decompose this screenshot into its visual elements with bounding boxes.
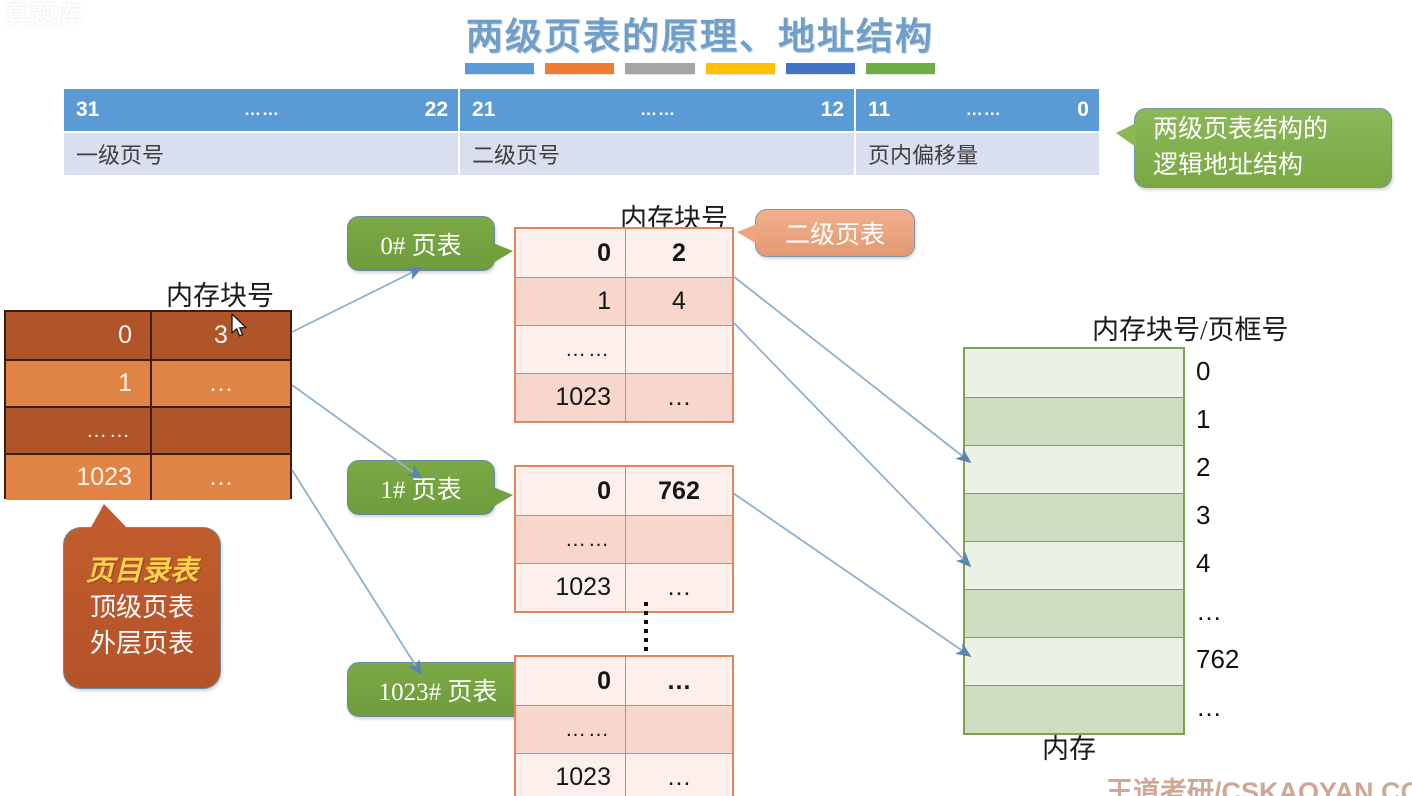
mouse-cursor-icon xyxy=(231,313,249,339)
callout-dir-line2: 顶级页表 xyxy=(90,590,194,626)
dir-index-2: …… xyxy=(6,408,152,453)
table-row: 0 2 xyxy=(516,229,732,277)
memory-frame xyxy=(965,541,1183,589)
callout-logic-line2: 逻辑地址结构 xyxy=(1153,148,1303,184)
pt0-index-2: …… xyxy=(516,326,626,373)
dir-value-2 xyxy=(152,408,290,453)
accent-bar-6 xyxy=(866,63,935,74)
address-bits-level2: 21 …… 12 xyxy=(459,88,855,132)
memory-frame xyxy=(965,397,1183,445)
dir-index-1: 1 xyxy=(6,361,152,406)
address-structure-table: 31 …… 22 21 …… 12 11 …… 0 一级页号 二级页号 页内偏移… xyxy=(63,88,1100,176)
bits-low-1: 22 xyxy=(425,98,448,122)
callout-tail-icon xyxy=(493,243,513,263)
accent-bar-1 xyxy=(465,63,534,74)
dir-value-3: … xyxy=(152,455,290,500)
label-block-number-right: 内存块号/页框号 xyxy=(1092,308,1289,347)
dir-value-0: 3 xyxy=(152,312,290,359)
callout-tail-icon xyxy=(1116,123,1136,147)
callout-dir-line1: 页目录表 xyxy=(86,554,198,590)
table-row: …… xyxy=(516,705,732,753)
arrow-pt1row0-to-frame762 xyxy=(733,493,970,656)
watermark-top-left: 真题库 xyxy=(4,0,230,30)
table-row: 1023 … xyxy=(516,563,732,611)
bits-dots-3: …… xyxy=(966,100,1002,120)
callout-logical-address-structure: 两级页表结构的 逻辑地址结构 xyxy=(1134,108,1392,188)
frame-label-7: … xyxy=(1196,683,1286,731)
field-level2-page-no: 二级页号 xyxy=(459,132,855,176)
page-title: 两级页表的原理、地址结构 xyxy=(420,6,980,60)
vertical-ellipsis-icon xyxy=(641,602,651,651)
accent-bar-3 xyxy=(625,63,694,74)
bits-high-2: 21 xyxy=(472,98,495,122)
bits-low-2: 12 xyxy=(821,98,844,122)
pt1-value-1 xyxy=(626,516,732,563)
callout-logic-line1: 两级页表结构的 xyxy=(1153,112,1328,148)
memory-frame xyxy=(965,445,1183,493)
bilibili-watermark: bilibili xyxy=(118,0,193,30)
pt1023-value-0: … xyxy=(626,657,732,705)
dir-value-1: … xyxy=(152,361,290,406)
table-row: …… xyxy=(516,325,732,373)
memory-frame xyxy=(965,493,1183,541)
bits-dots-1: …… xyxy=(244,100,280,120)
callout-tail-icon xyxy=(493,487,513,507)
address-bits-offset: 11 …… 0 xyxy=(855,88,1100,132)
memory-frame-labels: 0 1 2 3 4 … 762 … xyxy=(1196,347,1286,731)
pt0-value-2 xyxy=(626,326,732,373)
callout-l2-label: 二级页表 xyxy=(785,215,885,251)
second-level-page-table-0: 0 2 1 4 …… 1023 … xyxy=(514,227,734,423)
frame-label-6: 762 xyxy=(1196,635,1286,683)
slide-canvas: 真题库 bilibili 王道考研/CSKAOYAN.COM 两级页表的原理、地… xyxy=(0,0,1412,796)
callout-page-directory: 页目录表 顶级页表 外层页表 xyxy=(63,527,221,689)
pt0-value-3: … xyxy=(626,374,732,421)
pt1023-index-2: 1023 xyxy=(516,754,626,796)
pt1-index-0: 0 xyxy=(516,467,626,515)
callout-pt1-label: 1# 页表 xyxy=(380,470,461,506)
callout-second-level-page-table: 二级页表 xyxy=(755,209,915,257)
accent-bar-5 xyxy=(786,63,855,74)
pt0-index-3: 1023 xyxy=(516,374,626,421)
callout-tail-icon xyxy=(90,504,128,529)
frame-label-3: 3 xyxy=(1196,491,1286,539)
pt0-index-0: 0 xyxy=(516,229,626,277)
bits-dots-2: …… xyxy=(640,100,676,120)
pt1-index-2: 1023 xyxy=(516,564,626,611)
address-bit-row: 31 …… 22 21 …… 12 11 …… 0 xyxy=(63,88,1100,132)
bits-low-3: 0 xyxy=(1077,98,1089,122)
field-level1-page-no: 一级页号 xyxy=(63,132,459,176)
accent-bar-strip xyxy=(465,63,935,74)
frame-label-4: 4 xyxy=(1196,539,1286,587)
frame-label-0: 0 xyxy=(1196,347,1286,395)
table-row: 1 4 xyxy=(516,277,732,325)
callout-page-table-1: 1# 页表 xyxy=(347,460,495,515)
frame-label-5: … xyxy=(1196,587,1286,635)
table-row: …… xyxy=(516,515,732,563)
pt1023-value-1 xyxy=(626,706,732,753)
callout-dir-line3: 外层页表 xyxy=(90,626,194,662)
watermark-bottom-right: 王道考研/CSKAOYAN.COM xyxy=(1106,770,1412,796)
callout-pt0-label: 0# 页表 xyxy=(380,226,461,262)
pt1023-index-0: 0 xyxy=(516,657,626,705)
pt1023-value-2: … xyxy=(626,754,732,796)
second-level-page-table-1023: 0 … …… 1023 … xyxy=(514,655,734,796)
callout-page-table-0: 0# 页表 xyxy=(347,216,495,271)
callout-tail-icon xyxy=(737,224,757,244)
field-page-offset: 页内偏移量 xyxy=(855,132,1100,176)
address-field-row: 一级页号 二级页号 页内偏移量 xyxy=(63,132,1100,176)
second-level-page-table-1: 0 762 …… 1023 … xyxy=(514,465,734,613)
pt0-value-0: 2 xyxy=(626,229,732,277)
bits-high-1: 31 xyxy=(76,98,99,122)
pt1023-index-1: …… xyxy=(516,706,626,753)
memory-frame xyxy=(965,349,1183,397)
table-row: 0 … xyxy=(516,657,732,705)
arrow-dir0-to-pt0 xyxy=(292,268,421,332)
table-row: 1023 … xyxy=(516,753,732,796)
pt0-value-1: 4 xyxy=(626,278,732,325)
dir-index-0: 0 xyxy=(6,312,152,359)
frame-label-2: 2 xyxy=(1196,443,1286,491)
pt1-value-0: 762 xyxy=(626,467,732,515)
pt0-index-1: 1 xyxy=(516,278,626,325)
dir-index-3: 1023 xyxy=(6,455,152,500)
table-row: 0 762 xyxy=(516,467,732,515)
memory-frame xyxy=(965,685,1183,733)
bits-high-3: 11 xyxy=(868,98,890,122)
accent-bar-2 xyxy=(545,63,614,74)
memory-frame-column xyxy=(963,347,1185,735)
arrow-pt0row1-to-frame4 xyxy=(733,322,970,566)
table-row: 1023 … xyxy=(6,453,290,500)
arrow-pt0row0-to-frame2 xyxy=(733,276,970,462)
frame-label-1: 1 xyxy=(1196,395,1286,443)
accent-bar-4 xyxy=(706,63,775,74)
label-block-number-left: 内存块号 xyxy=(166,274,274,313)
callout-page-table-1023: 1023# 页表 xyxy=(347,662,529,717)
address-bits-level1: 31 …… 22 xyxy=(63,88,459,132)
callout-pt1023-label: 1023# 页表 xyxy=(379,672,498,708)
memory-frame xyxy=(965,589,1183,637)
table-row: 1 … xyxy=(6,359,290,406)
memory-frame xyxy=(965,637,1183,685)
table-row: …… xyxy=(6,406,290,453)
pt1-index-1: …… xyxy=(516,516,626,563)
table-row: 1023 … xyxy=(516,373,732,421)
